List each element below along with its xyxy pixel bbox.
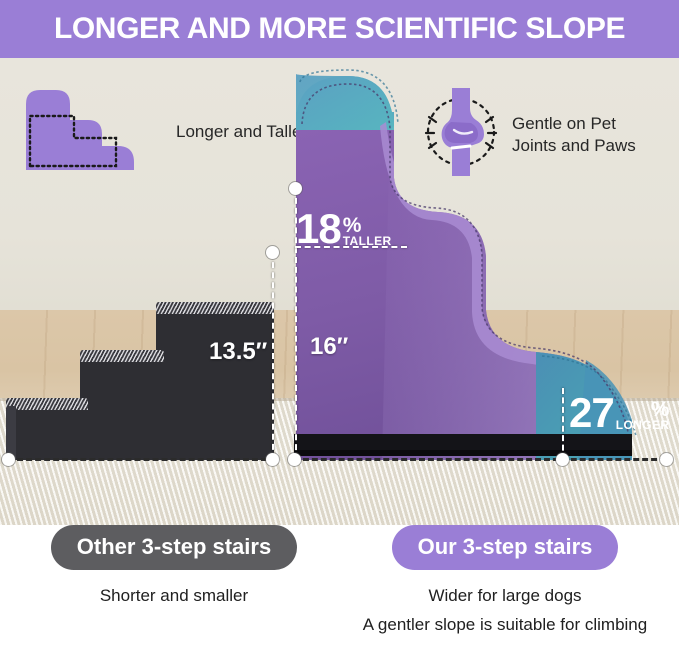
- our-stairs-caption: Wider for large dogs A gentler slope is …: [340, 581, 670, 639]
- other-stairs-pill: Other 3-step stairs: [51, 525, 297, 570]
- other-height-label: 13.5″: [209, 338, 267, 366]
- badge-18-unit: %: [343, 216, 362, 236]
- baseline-ours: [294, 458, 666, 461]
- our-height-guide: [295, 188, 297, 460]
- other-stairs-caption: Shorter and smaller: [14, 581, 334, 610]
- badge-27-longer: 27 % LONGER: [569, 394, 669, 433]
- our-stairs-pill: Our 3-step stairs: [392, 525, 619, 570]
- guide-dot-ours-left: [288, 453, 301, 466]
- guide-dot-ours-right: [660, 453, 673, 466]
- our-height-label: 16″: [310, 333, 348, 361]
- badge-27-word: LONGER: [616, 419, 670, 432]
- header-banner: LONGER AND MORE SCIENTIFIC SLOPE: [0, 0, 679, 58]
- guide-dot-other-right: [266, 453, 279, 466]
- badge-27-unit: %: [651, 400, 670, 420]
- comparison-column-ours: Our 3-step stairs Wider for large dogs A…: [340, 525, 670, 639]
- guide-dot-other-left: [2, 453, 15, 466]
- banner-title: LONGER AND MORE SCIENTIFIC SLOPE: [54, 12, 625, 46]
- badge-18-taller: 18 % TALLER: [296, 210, 392, 249]
- our-stairs-caption-line2: A gentler slope is suitable for climbing: [363, 615, 647, 634]
- comparison-footer: Other 3-step stairs Shorter and smaller …: [0, 525, 679, 657]
- taller-band-guide: [295, 246, 407, 248]
- badge-27-value: 27: [569, 394, 614, 433]
- guide-dot-ours-top: [289, 182, 302, 195]
- badge-18-value: 18: [296, 210, 341, 249]
- infographic-page: LONGER AND MORE SCIENTIFIC SLOPE Longer …: [0, 0, 679, 657]
- our-stairs-caption-line1: Wider for large dogs: [428, 586, 581, 605]
- guide-dot-other-top: [266, 246, 279, 259]
- comparison-column-other: Other 3-step stairs Shorter and smaller: [14, 525, 334, 610]
- product-scene: Longer and Taller Gentle on Pet: [0, 58, 679, 525]
- feature-longer-taller: Longer and Taller: [22, 86, 307, 177]
- baseline-other: [8, 458, 276, 461]
- stairs-outline-icon: [22, 86, 162, 177]
- longer-band-guide: [562, 388, 564, 460]
- guide-dot-longer: [556, 453, 569, 466]
- other-height-guide: [272, 252, 274, 460]
